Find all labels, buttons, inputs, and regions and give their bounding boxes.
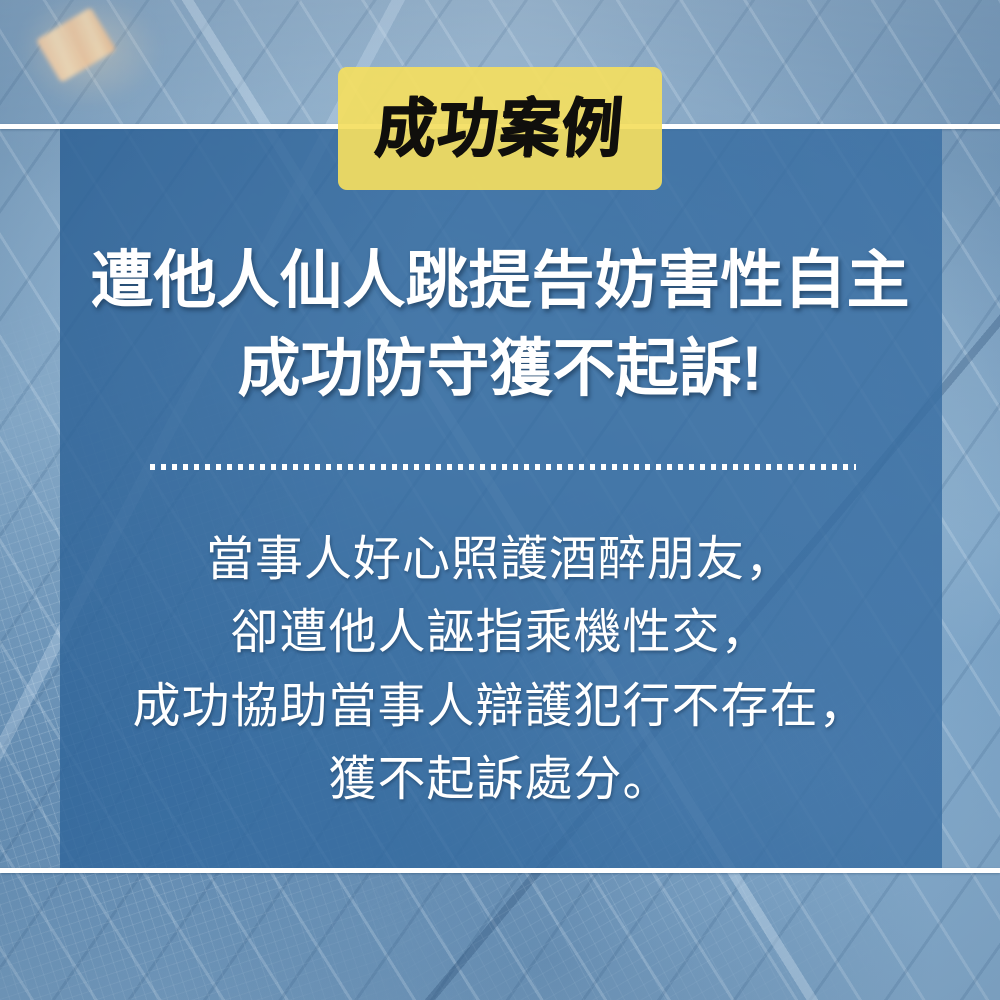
- bottom-divider-rule: [0, 868, 1000, 873]
- poster-canvas: 成功案例 遭他人仙人跳提告妨害性自主 成功防守獲不起訴! 當事人好心照護酒醉朋友…: [0, 0, 1000, 1000]
- headline-line-1: 遭他人仙人跳提告妨害性自主: [0, 237, 1000, 325]
- page-title: 遭他人仙人跳提告妨害性自主 成功防守獲不起訴!: [0, 237, 1000, 413]
- category-badge-label: 成功案例: [373, 97, 627, 161]
- headline-line-2: 成功防守獲不起訴!: [0, 325, 1000, 413]
- dotted-divider: [150, 464, 856, 470]
- body-line-4: 獲不起訴處分。: [0, 743, 1000, 816]
- body-copy: 當事人好心照護酒醉朋友， 卻遭他人誣指乘機性交， 成功協助當事人辯護犯行不存在，…: [0, 523, 1000, 817]
- body-line-3: 成功協助當事人辯護犯行不存在，: [0, 670, 1000, 743]
- category-badge: 成功案例: [338, 67, 662, 190]
- body-line-1: 當事人好心照護酒醉朋友，: [0, 523, 1000, 596]
- body-line-2: 卻遭他人誣指乘機性交，: [0, 596, 1000, 669]
